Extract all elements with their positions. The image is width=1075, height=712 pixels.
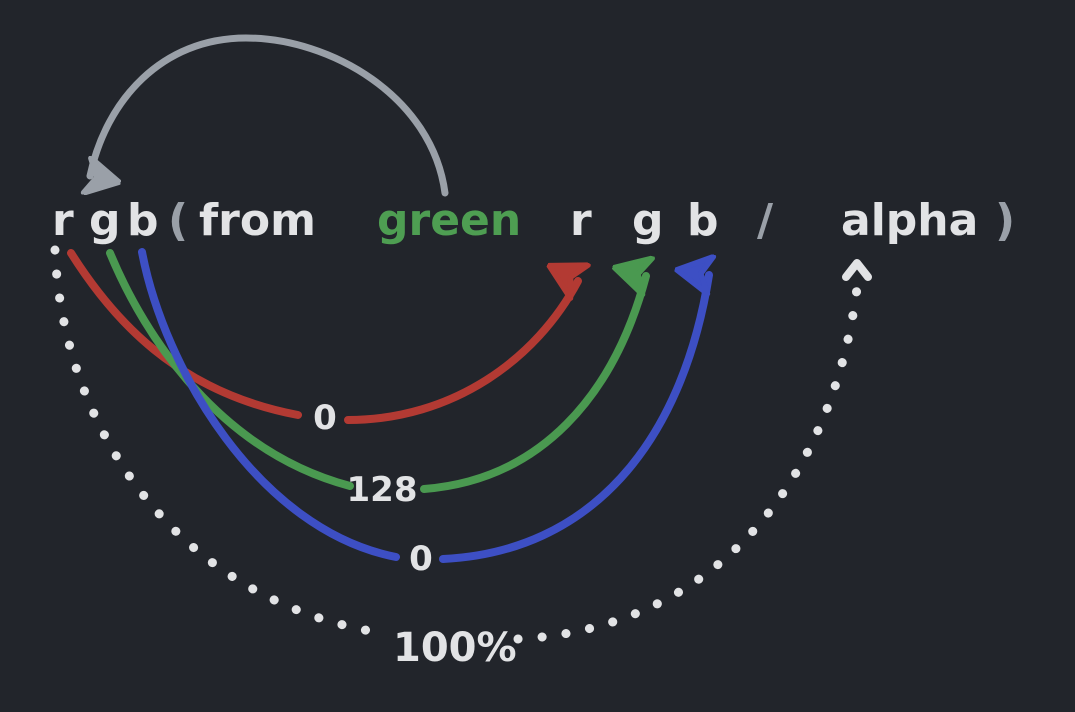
annotation-curves-layer <box>0 0 1075 712</box>
green-channel-path-left <box>110 253 350 486</box>
green-channel-value: 128 <box>343 470 421 510</box>
token-from-keyword[interactable]: from <box>199 199 316 243</box>
token-close-paren: ) <box>995 199 1015 243</box>
token-b-func[interactable]: b <box>127 199 159 243</box>
token-r-channel[interactable]: r <box>570 199 592 243</box>
token-g-channel[interactable]: g <box>632 199 664 243</box>
token-origin-color[interactable]: green <box>377 199 521 243</box>
green-channel-path-right <box>424 276 646 489</box>
token-g-func[interactable]: g <box>89 199 121 243</box>
blue-channel-value: 0 <box>401 539 441 579</box>
red-channel-path-right <box>348 281 578 420</box>
red-channel-path-left <box>71 253 298 415</box>
origin-arrow-path <box>90 38 445 193</box>
token-open-paren: ( <box>168 199 188 243</box>
token-b-channel[interactable]: b <box>687 199 719 243</box>
alpha-channel-group <box>55 250 868 639</box>
token-slash: / <box>757 199 773 243</box>
alpha-channel-path-right <box>518 288 857 639</box>
alpha-channel-value: 100% <box>393 625 513 671</box>
alpha-channel-path-left <box>55 250 388 634</box>
alpha-arrowhead-icon <box>846 263 868 277</box>
diagram-canvas: r g b ( from green r g b / alpha ) 0 128… <box>0 0 1075 712</box>
origin-arrow-group <box>90 38 445 193</box>
token-r-func[interactable]: r <box>52 199 74 243</box>
token-alpha-channel[interactable]: alpha <box>841 199 978 243</box>
red-channel-value: 0 <box>305 398 345 438</box>
